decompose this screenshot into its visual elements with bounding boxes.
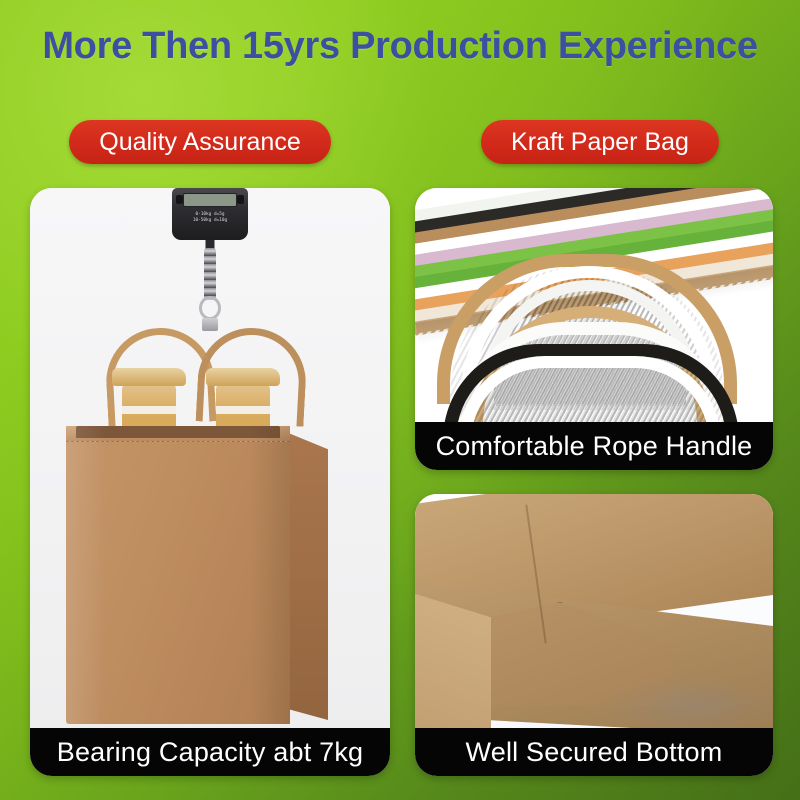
badge-slot-right: Kraft Paper Bag xyxy=(400,120,800,166)
kraft-paper-bag xyxy=(66,426,328,724)
badge-quality-assurance[interactable]: Quality Assurance xyxy=(69,120,331,164)
photo-bag-on-scale: 0-10kg d=5g 10-50kg d=10g xyxy=(30,188,390,776)
product-poster: More Then 15yrs Production Experience Qu… xyxy=(0,0,800,800)
bag-bottom-shadow xyxy=(603,676,773,736)
bag-shading xyxy=(66,426,290,724)
caption-secured-bottom: Well Secured Bottom xyxy=(415,728,773,776)
header-banner: More Then 15yrs Production Experience xyxy=(0,0,800,92)
scale-button-right xyxy=(237,195,244,204)
caption-bearing-capacity: Bearing Capacity abt 7kg xyxy=(30,728,390,776)
panel-rope-handle[interactable]: Comfortable Rope Handle xyxy=(415,188,773,470)
panel-secured-bottom[interactable]: Well Secured Bottom xyxy=(415,494,773,776)
scale-range-line-2: 10-50kg d=10g xyxy=(193,218,227,223)
badge-kraft-paper-bag[interactable]: Kraft Paper Bag xyxy=(481,120,719,164)
scale-range-label: 0-10kg d=5g 10-50kg d=10g xyxy=(180,212,240,224)
chain-icon xyxy=(204,248,216,300)
bag-front-face xyxy=(66,426,290,724)
badge-row: Quality Assurance Kraft Paper Bag xyxy=(0,120,800,166)
bottle-label-right xyxy=(216,406,270,414)
scale-button-left xyxy=(176,195,183,204)
panel-bearing-capacity[interactable]: 0-10kg d=5g 10-50kg d=10g xyxy=(30,188,390,776)
bottle-cap-right xyxy=(206,368,280,386)
scale-range-line-1: 0-10kg d=5g xyxy=(195,212,224,217)
carabiner-icon xyxy=(199,296,221,320)
bottle-cap-left xyxy=(112,368,186,386)
badge-slot-left: Quality Assurance xyxy=(0,120,400,166)
bottle-label-left xyxy=(122,406,176,414)
page-title: More Then 15yrs Production Experience xyxy=(42,25,757,68)
luggage-scale-icon: 0-10kg d=5g 10-50kg d=10g xyxy=(172,188,248,240)
scale-display xyxy=(183,193,237,207)
handle-clip xyxy=(202,318,218,331)
bag-gusset xyxy=(286,432,328,720)
caption-rope-handle: Comfortable Rope Handle xyxy=(415,422,773,470)
